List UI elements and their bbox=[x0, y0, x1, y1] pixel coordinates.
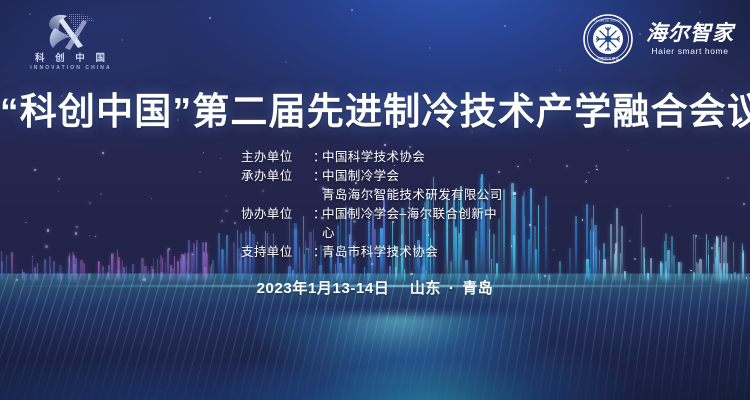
organizer-label: 支持单位 bbox=[241, 243, 313, 262]
organizer-value: 青岛海尔智能技术研发有限公司 bbox=[322, 186, 509, 205]
organizer-row: 青岛海尔智能技术研发有限公司 bbox=[241, 186, 509, 205]
conference-date: 2023年1月13-14日 bbox=[257, 280, 390, 297]
organizer-list: 主办单位：中国科学技术协会承办单位：中国制冷学会青岛海尔智能技术研发有限公司协办… bbox=[0, 148, 750, 262]
svg-text:中国制冷学会: 中国制冷学会 bbox=[597, 56, 620, 61]
haier-brand-en: Haier smart home bbox=[651, 46, 728, 56]
organizer-value: 中国科学技术协会 bbox=[322, 148, 509, 167]
haier-brand-cn: 海尔智家 bbox=[646, 22, 734, 44]
organizer-label: 主办单位 bbox=[241, 148, 313, 167]
conference-city: 青岛 bbox=[462, 280, 493, 297]
organizer-label: 协办单位 bbox=[241, 205, 313, 243]
organizer-value: 中国制冷学会 bbox=[322, 167, 509, 186]
organizer-colon: ： bbox=[313, 205, 322, 243]
organizer-colon bbox=[313, 186, 322, 205]
organizer-row: 承办单位：中国制冷学会 bbox=[241, 167, 509, 186]
organizer-value: 青岛市科学技术协会 bbox=[322, 243, 509, 262]
organizer-label: 承办单位 bbox=[241, 167, 313, 186]
conference-title: “科创中国”第二届先进制冷技术产学融合会议 bbox=[0, 92, 750, 133]
innovation-china-label-en: INNOVATION CHINA bbox=[28, 66, 111, 71]
organizer-colon: ： bbox=[313, 243, 322, 262]
organizer-colon: ： bbox=[313, 148, 322, 167]
refrigeration-association-seal-icon: CHINESE ASSOC 中国制冷学会 bbox=[583, 14, 633, 64]
innovation-china-mark-icon bbox=[43, 12, 97, 52]
organizer-label bbox=[241, 186, 313, 205]
logo-innovation-china: 科 创 中 国 INNOVATION CHINA bbox=[22, 12, 118, 76]
organizer-row: 支持单位：青岛市科学技术协会 bbox=[241, 243, 509, 262]
logo-haier-group: CHINESE ASSOC 中国制冷学会 海尔智家 Haier smart ho… bbox=[583, 14, 734, 64]
conference-banner: 科 创 中 国 INNOVATION CHINA bbox=[0, 0, 750, 400]
innovation-china-label-cn: 科 创 中 国 bbox=[31, 54, 109, 64]
organizer-value: 中国制冷学会–海尔联合创新中心 bbox=[322, 205, 509, 243]
location-separator: · bbox=[446, 280, 458, 297]
date-location-bar: 2023年1月13-14日 山东 · 青岛 bbox=[0, 277, 750, 298]
organizer-row: 协办单位：中国制冷学会–海尔联合创新中心 bbox=[241, 205, 509, 243]
conference-province: 山东 bbox=[410, 280, 441, 297]
organizer-colon: ： bbox=[313, 167, 322, 186]
organizer-row: 主办单位：中国科学技术协会 bbox=[241, 148, 509, 167]
haier-wordmark: 海尔智家 Haier smart home bbox=[646, 22, 734, 56]
svg-text:CHINESE ASSOC: CHINESE ASSOC bbox=[594, 19, 622, 23]
